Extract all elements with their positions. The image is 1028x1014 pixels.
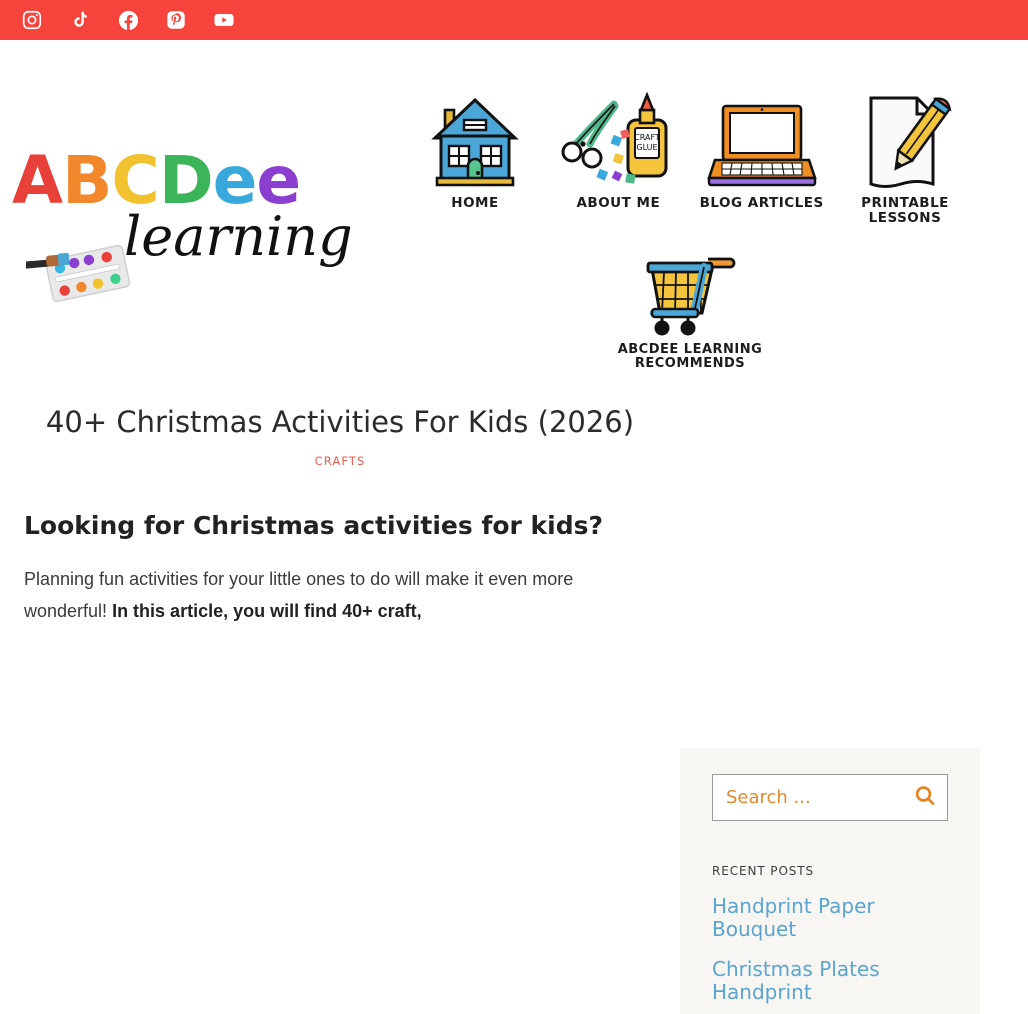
list-item: Handprint Paper Bouquet [712,895,948,941]
house-icon [429,90,521,190]
nav-label-recommends: ABCDEE LEARNING RECOMMENDS [600,343,780,371]
nav-item-blog-articles[interactable]: BLOG ARTICLES [697,90,827,225]
social-link-facebook[interactable] [104,0,152,40]
recent-post-link-1[interactable]: Handprint Paper Bouquet [712,894,875,941]
nav-label-blog-articles: BLOG ARTICLES [700,196,824,211]
recent-posts-list: Handprint Paper Bouquet Christmas Plates… [712,895,948,1004]
social-link-tiktok[interactable] [56,0,104,40]
pinterest-icon [165,9,187,31]
instagram-icon [21,9,43,31]
youtube-icon [212,8,236,32]
search-box[interactable] [712,774,948,821]
logo-script-word: learning [124,210,353,264]
facebook-icon [117,9,140,32]
paint-palette-icon [26,232,134,315]
page-body: 40+ Christmas Activities For Kids (2026)… [0,375,1028,1014]
social-link-pinterest[interactable] [152,0,200,40]
nav-item-printable-lessons[interactable]: PRINTABLE LESSONS [840,90,970,225]
logo-letter-a: A [12,148,62,214]
social-link-youtube[interactable] [200,0,248,40]
paper-pencil-icon [857,90,953,190]
shopping-cart-icon [638,245,742,337]
svg-text:CRAFT: CRAFT [635,133,661,142]
page-title: 40+ Christmas Activities For Kids (2026) [24,405,656,440]
recent-post-link-2[interactable]: Christmas Plates Handprint [712,957,880,1004]
primary-nav: HOME CRAFT GLUE [410,90,970,225]
paragraph-bold-text: In this article, you will find 40+ craft… [112,601,422,621]
recent-posts-title: RECENT POSTS [712,864,948,878]
social-bar [0,0,1028,40]
nav-label-about-me: ABOUT ME [576,196,660,211]
sidebar: RECENT POSTS Handprint Paper Bouquet Chr… [680,748,980,1014]
article-heading: Looking for Christmas activities for kid… [24,510,656,541]
site-logo[interactable]: ABCDee learning [6,148,356,293]
scissors-glue-icon: CRAFT GLUE [558,90,678,190]
list-item: Christmas Plates Handprint [712,958,948,1004]
secondary-nav: ABCDEE LEARNING RECOMMENDS [600,245,780,371]
laptop-icon [707,90,817,190]
article-paragraph: Planning fun activities for your little … [24,563,656,627]
search-icon [913,784,937,811]
post-category-link[interactable]: CRAFTS [24,454,656,468]
svg-text:GLUE: GLUE [637,143,658,152]
nav-item-about-me[interactable]: CRAFT GLUE ABOUT ME [553,90,683,225]
tiktok-icon [69,9,91,31]
social-link-instagram[interactable] [8,0,56,40]
search-button[interactable] [912,785,938,811]
site-header: ABCDee learning [0,40,1028,375]
nav-item-recommends[interactable]: ABCDEE LEARNING RECOMMENDS [600,245,780,371]
nav-label-printable-lessons: PRINTABLE LESSONS [840,196,970,225]
logo-letter-b: B [62,148,111,214]
article-column: 40+ Christmas Activities For Kids (2026)… [0,375,680,1014]
nav-item-home[interactable]: HOME [410,90,540,225]
nav-label-home: HOME [451,196,498,211]
